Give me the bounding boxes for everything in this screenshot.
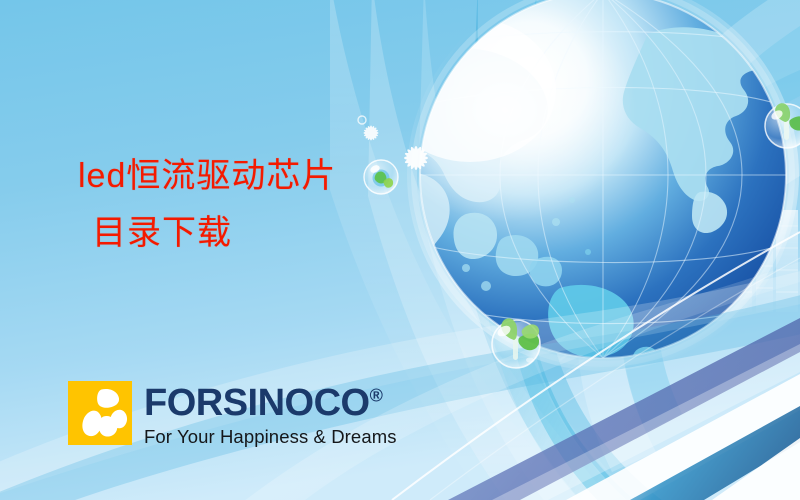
four-petal-pinwheel-icon <box>68 381 132 445</box>
bubble-sprout <box>492 318 540 368</box>
registered-trademark-icon: ® <box>370 385 383 405</box>
headline-block: led恒流驱动芯片 目录下载 <box>78 158 336 251</box>
flower-sprite-large <box>404 146 428 170</box>
headline-line-2: 目录下载 <box>78 215 336 252</box>
logo-text-block: FORSINOCO® For Your Happiness & Dreams <box>144 381 397 447</box>
logo-wordmark: FORSINOCO® <box>144 384 397 422</box>
headline-line-1: led恒流驱动芯片 <box>78 158 336 195</box>
logo-tagline: For Your Happiness & Dreams <box>144 428 397 447</box>
logo-wordmark-text: FORSINOCO <box>144 382 370 424</box>
bubble-globe <box>364 160 398 194</box>
banner-canvas: led恒流驱动芯片 目录下载 FORSINOCO® For Your Happi… <box>0 0 800 500</box>
company-logo[interactable]: FORSINOCO® For Your Happiness & Dreams <box>68 381 397 447</box>
